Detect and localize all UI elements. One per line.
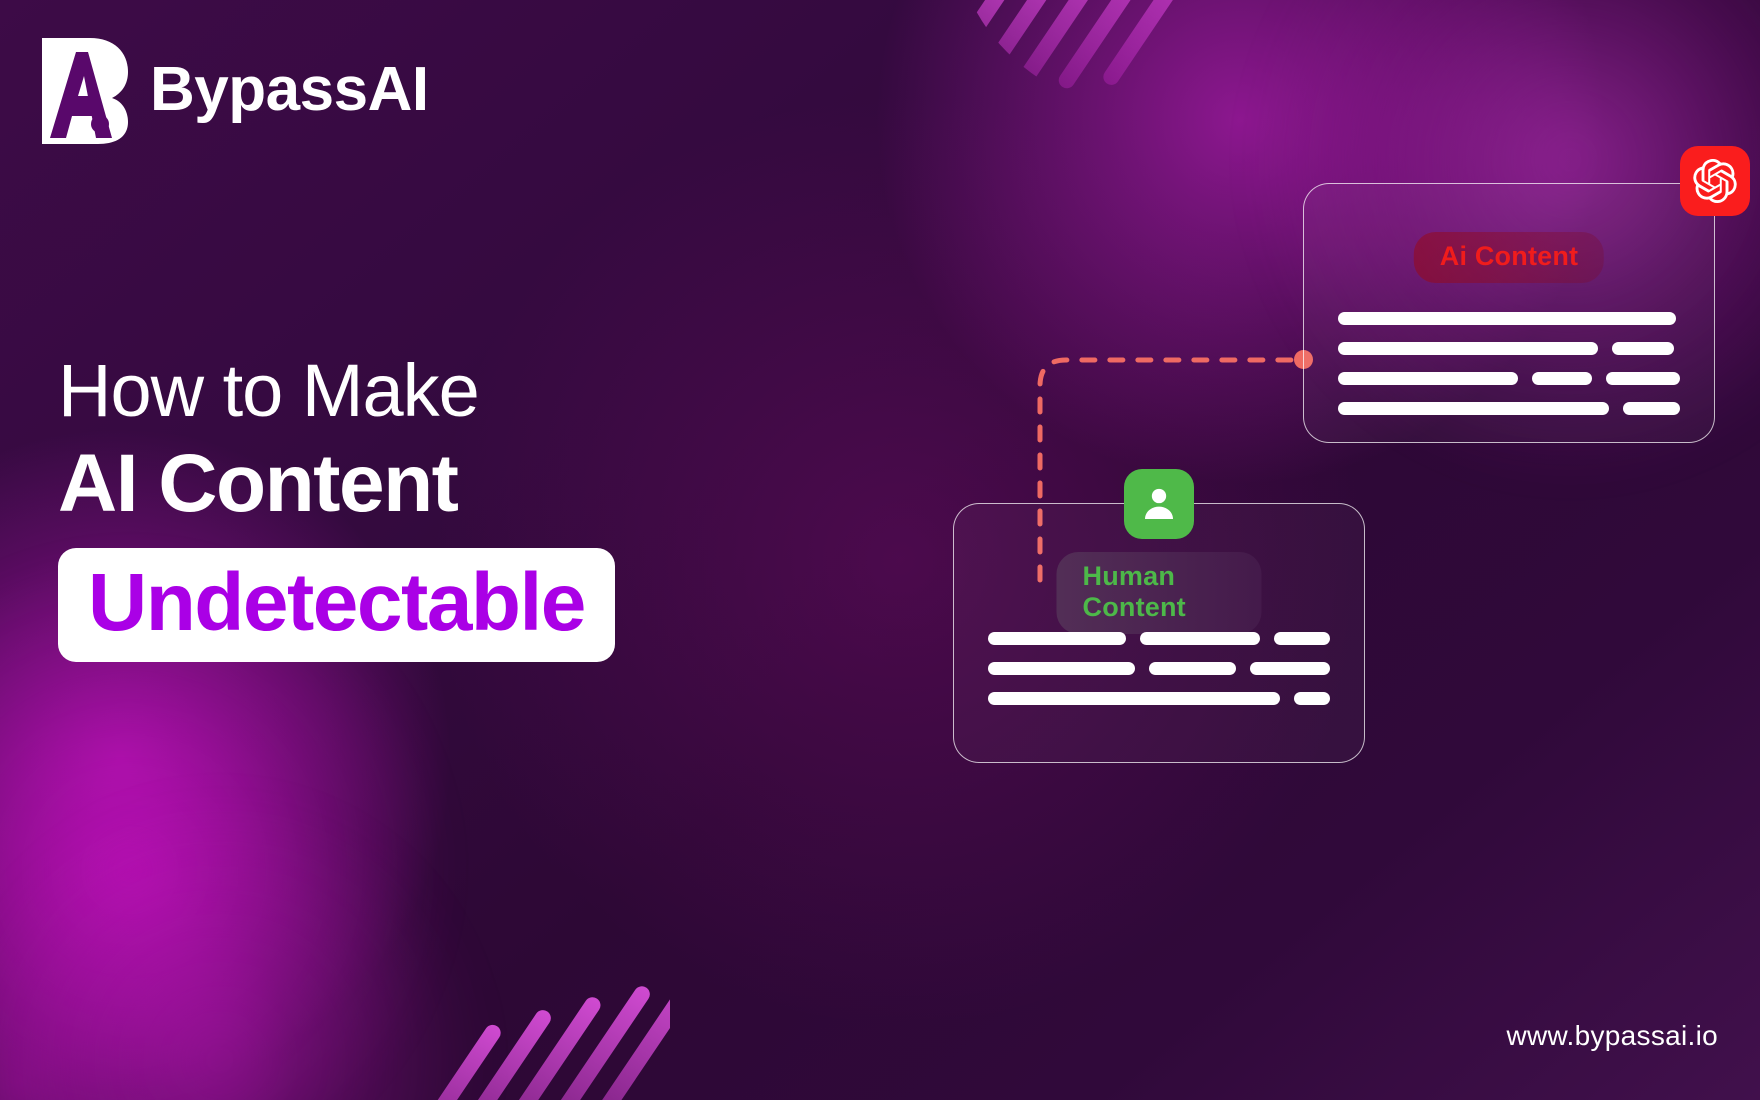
- human-content-card[interactable]: Human Content: [953, 503, 1365, 763]
- headline-line-1: How to Make: [58, 352, 918, 430]
- text-line-row: [988, 692, 1330, 705]
- footer-website-url[interactable]: www.bypassai.io: [1507, 1020, 1718, 1052]
- headline-line-2: AI Content: [58, 438, 918, 530]
- brand-name: BypassAI: [150, 59, 429, 121]
- ai-content-pill: Ai Content: [1414, 232, 1604, 283]
- headline-highlight-box: Undetectable: [58, 548, 615, 662]
- person-icon: [1124, 469, 1194, 539]
- decor-stripes-top: [958, 0, 1208, 127]
- ai-content-card[interactable]: Ai Content: [1303, 183, 1715, 443]
- text-line-row: [1338, 372, 1680, 385]
- text-line-row: [1338, 402, 1680, 415]
- ai-content-pill-label: Ai Content: [1440, 241, 1578, 271]
- human-card-text-lines: [988, 632, 1330, 722]
- headline-block: How to Make AI Content Undetectable: [58, 352, 918, 662]
- text-line-row: [1338, 312, 1680, 325]
- text-line-row: [988, 632, 1330, 645]
- glow-bottom-left: [0, 800, 480, 1100]
- text-line-row: [1338, 342, 1680, 355]
- brand-logo[interactable]: BypassAI: [36, 34, 429, 146]
- openai-logo-icon: [1680, 146, 1750, 216]
- ai-card-text-lines: [1338, 312, 1680, 432]
- human-content-pill-label: Human Content: [1083, 561, 1186, 622]
- decor-stripes-bottom: [430, 950, 670, 1100]
- text-line-row: [988, 662, 1330, 675]
- poster-canvas: BypassAI How to Make AI Content Undetect…: [0, 0, 1760, 1100]
- human-content-pill: Human Content: [1057, 552, 1262, 634]
- headline-line-3: Undetectable: [88, 557, 585, 648]
- bypassai-logo-icon: [36, 34, 128, 146]
